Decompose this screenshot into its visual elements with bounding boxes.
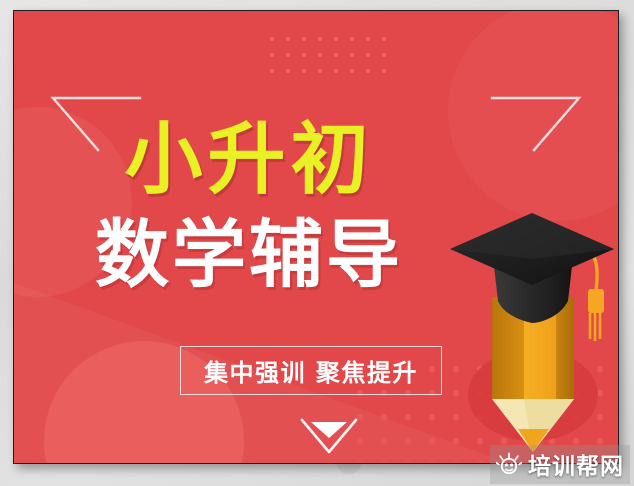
watermark: 培训帮网: [490, 445, 630, 484]
graduation-cap-on-pencil-icon: [448, 199, 616, 461]
tagline-text: 集中强训 聚焦提升: [204, 353, 418, 388]
angle-bracket-right-icon: [490, 95, 582, 153]
headline-main: 小升初: [14, 117, 484, 203]
headline-block: 小升初 数学辅导: [14, 117, 484, 297]
watermark-label: 培训帮网: [528, 447, 624, 481]
headline-sub: 数学辅导: [14, 213, 484, 297]
dot-grid-top: [262, 29, 390, 77]
tagline-box: 集中强训 聚焦提升: [180, 346, 442, 395]
promo-banner: 小升初 数学辅导 集中强训 聚焦提升: [13, 10, 619, 464]
chevron-down-arrow-icon[interactable]: [295, 411, 363, 457]
sun-face-icon: [496, 452, 522, 476]
